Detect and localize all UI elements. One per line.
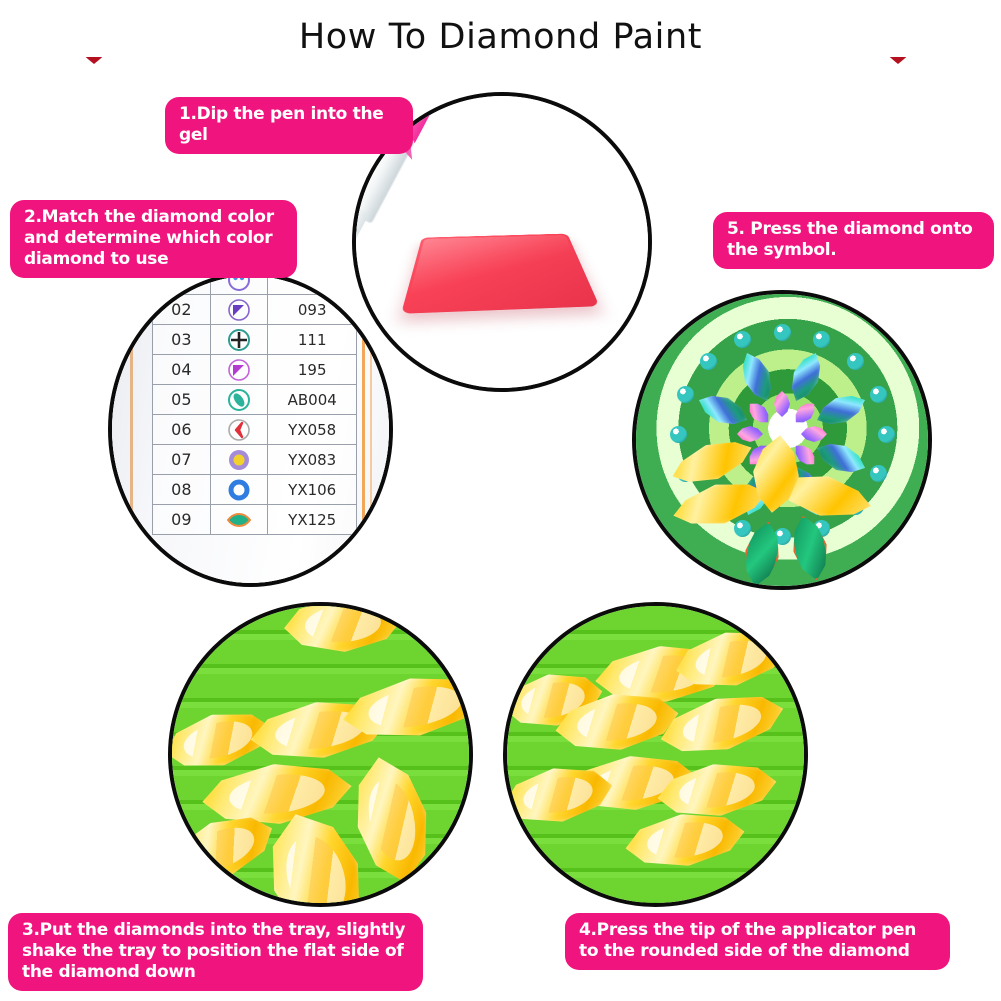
chart-row-code: 111 <box>268 325 357 355</box>
canvas-gem <box>735 348 779 406</box>
chart-row-code: YX058 <box>268 415 357 445</box>
canvas-gem <box>813 331 830 348</box>
canvas-gem <box>784 348 828 406</box>
table-row: 05AB004 <box>153 385 357 415</box>
table-row: 02093 <box>153 295 357 325</box>
canvas-gem <box>670 426 687 443</box>
chart-row-number: 02 <box>153 295 211 325</box>
canvas-gem <box>790 398 820 428</box>
canvas-gem <box>878 426 895 443</box>
photo-pen-picking-up-diamond <box>507 606 804 903</box>
eye-symbol <box>210 505 268 535</box>
canvas-gem <box>870 386 887 403</box>
canvas-gem <box>734 331 751 348</box>
table-row: 04195 <box>153 355 357 385</box>
chart-row-code: 093 <box>268 295 357 325</box>
filled-dot-symbol <box>210 445 268 475</box>
chart-row-code: 195 <box>268 355 357 385</box>
canvas-gem <box>694 389 752 433</box>
color-symbol-table: 0102802093031110419505AB00406YX05807YX08… <box>152 272 357 535</box>
color-symbol-table-body: 0102802093031110419505AB00406YX05807YX08… <box>153 272 357 535</box>
table-row: 07YX083 <box>153 445 357 475</box>
triangle-symbol <box>210 355 268 385</box>
chart-row-code: YX125 <box>268 505 357 535</box>
chart-row-number: 08 <box>153 475 211 505</box>
canvas-gem <box>745 398 775 428</box>
table-row: 06YX058 <box>153 415 357 445</box>
step-2-label: 2.Match the diamond color and determine … <box>10 200 297 278</box>
canvas-gem <box>700 353 717 370</box>
diamond-gem <box>344 750 439 890</box>
chart-margin-stripe <box>362 276 365 583</box>
photo-color-symbol-chart: 0102802093031110419505AB00406YX05807YX08… <box>112 276 389 583</box>
applicator-pen <box>632 290 696 434</box>
canvas-gem <box>847 353 864 370</box>
leaf-symbol <box>210 385 268 415</box>
canvas-gem <box>737 426 763 442</box>
canvas-gem <box>870 465 887 482</box>
chart-row-number: 06 <box>153 415 211 445</box>
page-title-text: How To Diamond Paint <box>285 17 716 57</box>
arrow-symbol <box>210 415 268 445</box>
step-3-photo <box>168 602 473 907</box>
chart-row-number: 07 <box>153 445 211 475</box>
step-5-photo <box>632 290 932 590</box>
diamond-gem <box>282 602 404 656</box>
canvas-gem <box>734 520 751 537</box>
step-1-label: 1.Dip the pen into the gel <box>165 97 413 154</box>
triangle-symbol <box>210 295 268 325</box>
chart-row-number: 04 <box>153 355 211 385</box>
chart-row-code: AB004 <box>268 385 357 415</box>
step-3-label: 3.Put the diamonds into the tray, slight… <box>8 913 423 991</box>
chart-row-number: 09 <box>153 505 211 535</box>
canvas-gem <box>774 391 790 417</box>
step-4-label: 4.Press the tip of the applicator pen to… <box>565 913 950 970</box>
diamond-gem <box>199 756 354 831</box>
diamond-gem <box>622 806 748 874</box>
chart-row-number: 05 <box>153 385 211 415</box>
gel-pad <box>401 234 599 314</box>
chart-margin-stripe <box>130 276 133 583</box>
table-row: 03111 <box>153 325 357 355</box>
table-row: 08YX106 <box>153 475 357 505</box>
step-2-photo: 0102802093031110419505AB00406YX05807YX08… <box>108 272 393 587</box>
canvas-gem <box>677 386 694 403</box>
plus-symbol <box>210 325 268 355</box>
step-4-photo <box>503 602 808 907</box>
canvas-gem <box>774 324 791 341</box>
chart-row-code: YX106 <box>268 475 357 505</box>
canvas-gem <box>812 388 870 432</box>
table-row: 09YX125 <box>153 505 357 535</box>
ring-symbol <box>210 475 268 505</box>
page-title: How To Diamond Paint <box>0 17 1001 57</box>
step-5-label: 5. Press the diamond onto the symbol. <box>713 212 994 269</box>
canvas-gem <box>812 436 870 480</box>
page-header: How To Diamond Paint <box>0 0 1001 88</box>
chart-row-code: YX083 <box>268 445 357 475</box>
photo-diamonds-in-green-tray <box>172 606 469 903</box>
canvas-gem <box>801 426 827 442</box>
chart-margin-stripe <box>370 276 372 583</box>
pen-body <box>632 290 682 383</box>
photo-placing-diamond-on-canvas <box>636 294 928 586</box>
chart-row-number: 03 <box>153 325 211 355</box>
